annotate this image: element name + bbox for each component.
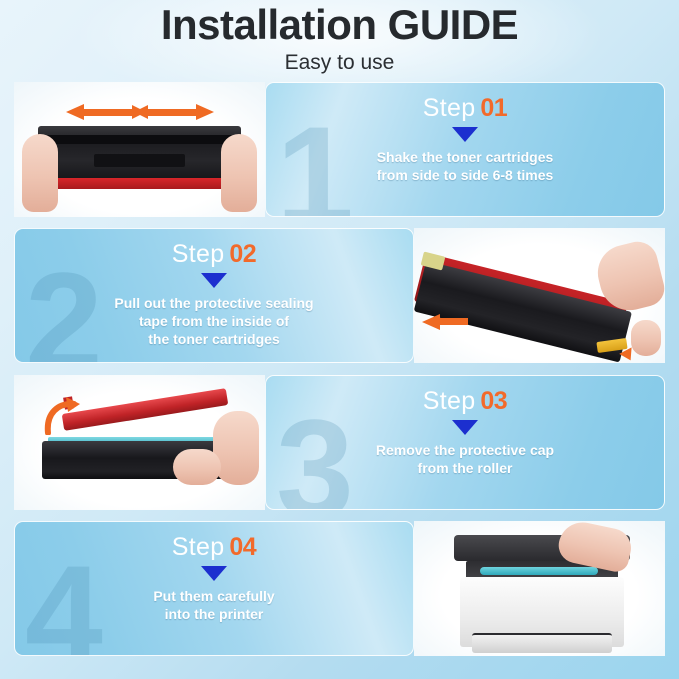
step-4-photo <box>414 521 665 656</box>
step-2-heading: Step02 <box>172 240 256 268</box>
step-4-number: 04 <box>229 533 256 561</box>
printer-output-tray <box>472 633 612 653</box>
step-2-panel: 2 Step02 Pull out the protective sealing… <box>14 228 414 363</box>
step-row-4: 4 Step04 Put them carefully into the pri… <box>14 521 665 656</box>
double-arrow-icon <box>66 104 214 120</box>
right-hand-illustration <box>221 134 257 212</box>
step-2-body: Pull out the protective sealing tape fro… <box>98 294 329 348</box>
right-hand-illustration <box>213 411 259 485</box>
step-4-label: Step <box>172 533 225 561</box>
curved-arrow-icon <box>42 395 86 435</box>
left-hand-illustration <box>22 134 58 212</box>
cartridge-drum-roller <box>480 567 598 575</box>
step-1-photo <box>14 82 265 217</box>
step-1-panel: 1 Step01 Shake the toner cartridges from… <box>265 82 665 217</box>
step-2-photo <box>414 228 665 363</box>
step-3-number: 03 <box>480 387 507 415</box>
step-row-2: 2 Step02 Pull out the protective sealing… <box>14 228 665 363</box>
step-2-number: 02 <box>229 240 256 268</box>
left-arrow-icon <box>422 314 468 329</box>
step-3-heading: Step03 <box>423 387 507 415</box>
right-hand-palm-illustration <box>173 449 221 485</box>
step-1-body: Shake the toner cartridges from side to … <box>361 148 570 184</box>
right-hand-lower-illustration <box>631 320 661 356</box>
down-triangle-icon <box>452 127 478 142</box>
installation-guide-page: Installation GUIDE Easy to use 1 <box>0 0 679 679</box>
page-subtitle: Easy to use <box>0 48 679 75</box>
step-2-label: Step <box>172 240 225 268</box>
toner-cartridge-illustration <box>38 126 241 182</box>
step-3-label: Step <box>423 387 476 415</box>
step-row-3: 3 Step03 Remove the protective cap from … <box>14 375 665 510</box>
step-row-1: 1 Step01 Shake the toner cartridges from… <box>14 82 665 217</box>
step-1-heading: Step01 <box>423 94 507 122</box>
page-title: Installation GUIDE <box>0 0 679 48</box>
step-3-body: Remove the protective cap from the rolle… <box>360 441 570 477</box>
header: Installation GUIDE Easy to use <box>0 0 679 78</box>
step-4-panel: 4 Step04 Put them carefully into the pri… <box>14 521 414 656</box>
step-1-label: Step <box>423 94 476 122</box>
down-triangle-icon <box>452 420 478 435</box>
step-3-photo <box>14 375 265 510</box>
step-4-body: Put them carefully into the printer <box>137 587 290 623</box>
cartridge-red-base <box>38 178 241 189</box>
down-triangle-icon <box>201 566 227 581</box>
step-1-number: 01 <box>480 94 507 122</box>
step-3-panel: 3 Step03 Remove the protective cap from … <box>265 375 665 510</box>
step-4-heading: Step04 <box>172 533 256 561</box>
down-triangle-icon <box>201 273 227 288</box>
